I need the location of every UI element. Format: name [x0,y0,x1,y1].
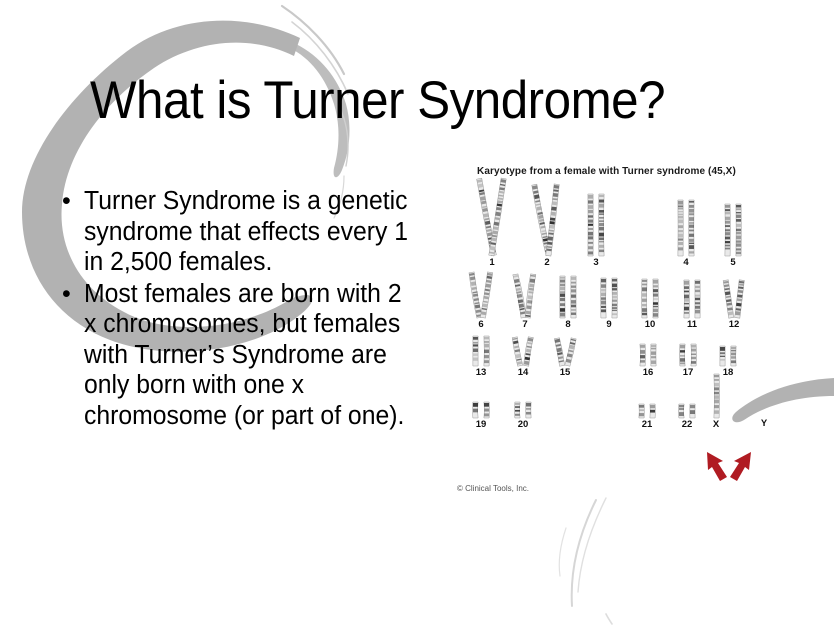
chromosome-pair-glyphs [549,270,587,319]
page-title: What is Turner Syndrome? [90,66,685,136]
chromosome-icon [610,277,619,319]
chromosome-pair-glyphs [673,270,711,319]
chromosome-pair-glyphs [711,332,745,367]
chromosome-icon [687,199,696,257]
chromosome-icon [478,271,494,320]
chromosome-pair-glyphs [507,380,539,419]
chromosome-icon [723,203,732,257]
chromosome-icon [599,277,608,319]
chromosome-icon [693,279,702,319]
chromosome-pair-glyphs [465,184,519,257]
chromosome-label: 2 [523,258,571,268]
chromosome-pair-glyphs [505,270,545,319]
chromosome-icon [682,279,691,319]
chromosome-label: 8 [549,320,587,330]
chromosome-label: 16 [631,368,665,378]
chromosome-icon [522,335,536,367]
bullet-text: Most females are born with 2 x chromosom… [84,279,412,432]
chromosome-pair-glyphs [461,270,501,319]
chromosome-pair-7: 7 [505,270,545,332]
chromosome-pair-8: 8 [549,270,587,332]
chromosome-label: Y [757,419,771,429]
karyotype-row: 131415161718 [455,332,795,380]
chromosome-pair-glyphs [463,332,499,367]
chromosome-pair-17: 17 [671,332,705,380]
chromosome-pair-14: 14 [505,332,541,380]
chromosome-icon [718,345,727,367]
chromosome-label: 3 [575,258,617,268]
karyotype-figure: Karyotype from a female with Turner synd… [455,166,795,506]
chromosome-label: 20 [507,420,539,430]
chromosome-pair-glyphs [591,270,627,319]
chromosome-pair-glyphs [671,332,705,367]
chromosome-icon [544,183,562,258]
chromosome-label: 12 [715,320,753,330]
chromosome-icon [524,401,533,419]
chromosome-pair-11: 11 [673,270,711,332]
chromosome-pair-3: 3 [575,184,617,270]
chromosome-icon [734,203,743,257]
chromosome-icon [569,275,578,319]
chromosome-label: 4 [665,258,707,268]
chromosome-label: 1 [465,258,519,268]
slide: What is Turner Syndrome? • Turner Syndro… [0,0,834,625]
chromosome-icon [689,343,698,367]
chromosome-pair-4: 4 [665,184,707,270]
chromosome-label: 9 [591,320,627,330]
chromosome-label: 19 [465,420,497,430]
arrow-up-right-icon [730,452,751,481]
chromosome-pair-X: X [705,380,727,432]
chromosome-icon [640,278,649,319]
chromosome-label: 10 [631,320,669,330]
chromosome-pair-glyphs [631,380,663,419]
chromosome-icon [733,279,747,320]
chromosome-pair-glyphs [715,270,753,319]
chromosome-label: 14 [505,368,541,378]
chromosome-label-y: Y [757,418,771,429]
chromosome-icon [712,373,721,419]
chromosome-icon [471,335,480,367]
karyotype-row: 19202122XY [455,380,795,432]
chromosome-icon [597,193,606,257]
chromosome-pair-glyphs [465,380,497,419]
chromosome-pair-glyphs [631,270,669,319]
bullet-marker: • [62,279,84,432]
chromosome-icon [677,403,686,419]
chromosome-icon [523,273,538,320]
chromosome-icon [648,403,657,419]
chromosome-icon [678,343,687,367]
chromosome-pair-glyphs [705,380,727,419]
chromosome-icon [649,343,658,367]
chromosome-pair-5: 5 [713,184,753,270]
list-item: • Most females are born with 2 x chromos… [62,279,422,432]
chromosome-icon [558,275,567,319]
karyotype-row: 6789101112 [455,270,795,332]
chromosome-pair-glyphs [713,184,753,257]
chromosome-pair-16: 16 [631,332,665,380]
chromosome-pair-21: 21 [631,380,663,432]
bullet-text: Turner Syndrome is a genetic syndrome th… [84,186,412,278]
chromosome-pair-12: 12 [715,270,753,332]
chromosome-icon [676,199,685,257]
chromosome-pair-6: 6 [461,270,501,332]
chromosome-pair-2: 2 [523,184,571,270]
chromosome-icon [688,403,697,419]
chromosome-pair-glyphs [665,184,707,257]
list-item: • Turner Syndrome is a genetic syndrome … [62,186,422,278]
chromosome-pair-glyphs [575,184,617,257]
chromosome-icon [513,401,522,419]
chromosome-pair-9: 9 [591,270,627,332]
chromosome-label: 6 [461,320,501,330]
red-arrows-annotation [703,448,763,482]
chromosome-icon [651,278,660,319]
chromosome-pair-glyphs [505,332,541,367]
chromosome-icon [482,335,491,367]
chromosome-pair-glyphs [671,380,703,419]
chromosome-pair-glyphs [547,332,583,367]
arrow-up-left-icon [707,452,727,481]
brush-thin-1 [572,500,596,606]
brush-thin-4 [606,614,612,624]
chromosome-icon [482,401,491,419]
chromosome-pair-glyphs [631,332,665,367]
karyotype-row: 12345 [455,184,795,270]
brush-wisp-1 [282,6,344,74]
chromosome-pair-10: 10 [631,270,669,332]
chromosome-icon [729,345,738,367]
chromosome-pair-13: 13 [463,332,499,380]
copyright-notice: © Clinical Tools, Inc. [457,484,529,493]
chromosome-label: 17 [671,368,705,378]
chromosome-icon [586,193,595,257]
chromosome-label: 5 [713,258,753,268]
chromosome-label: 15 [547,368,583,378]
chromosome-pair-glyphs [523,184,571,257]
chromosome-icon [563,336,578,367]
bullet-list: • Turner Syndrome is a genetic syndrome … [62,186,422,432]
chromosome-icon [471,401,480,419]
chromosome-pair-22: 22 [671,380,703,432]
chromosome-label: 21 [631,420,663,430]
brush-thin-2 [578,498,606,592]
chromosome-label: 7 [505,320,545,330]
brush-thin-3 [559,528,566,576]
chromosome-label: 22 [671,420,703,430]
chromosome-icon [638,343,647,367]
chromosome-pair-15: 15 [547,332,583,380]
chromosome-label: X [705,420,727,430]
karyotype-caption: Karyotype from a female with Turner synd… [477,166,736,177]
chromosome-pair-1: 1 [465,184,519,270]
chromosome-pair-19: 19 [465,380,497,432]
chromosome-pair-20: 20 [507,380,539,432]
chromosome-label: 13 [463,368,499,378]
chromosome-label: 11 [673,320,711,330]
bullet-marker: • [62,186,84,278]
chromosome-icon [637,403,646,419]
